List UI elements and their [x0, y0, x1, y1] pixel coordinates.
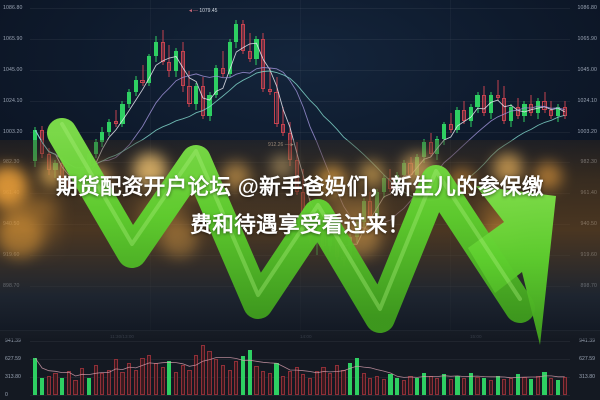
- headline-line-2: 费和待遇享受看过来！: [0, 206, 600, 244]
- chart-screenshot: 1086.801065.901045.001024.101003.20982.3…: [0, 0, 600, 400]
- headline-text: 期货配资开户论坛 @新手爸妈们，新生儿的参保缴 费和待遇享受看过来！: [0, 168, 600, 244]
- headline-line-1: 期货配资开户论坛 @新手爸妈们，新生儿的参保缴: [56, 175, 544, 199]
